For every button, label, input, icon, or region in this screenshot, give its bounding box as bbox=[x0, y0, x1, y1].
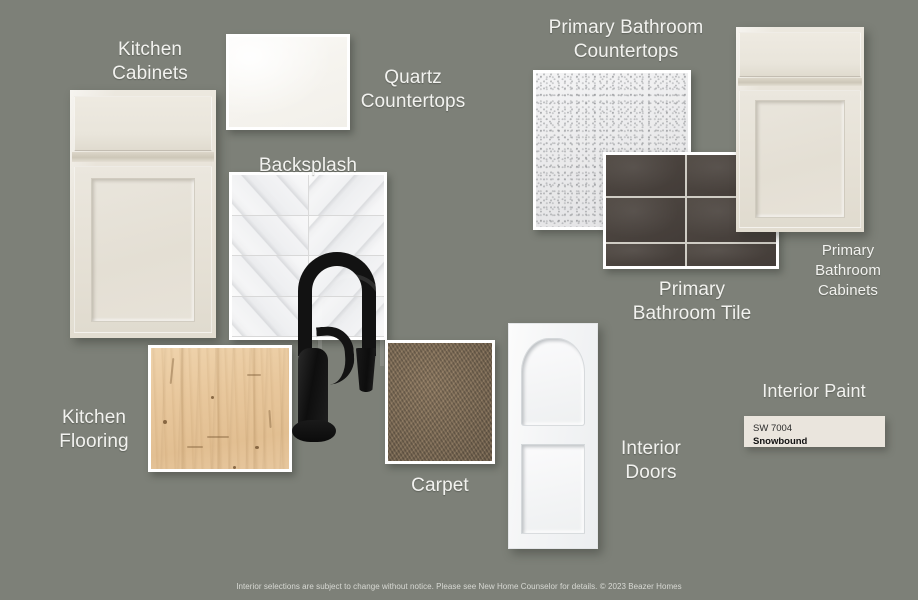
label-quartz-countertops: Quartz Countertops bbox=[352, 66, 474, 114]
paint-name-label: Snowbound bbox=[753, 435, 876, 448]
wood-floor-surface bbox=[151, 348, 289, 469]
paint-code-label: SW 7004 bbox=[753, 423, 876, 435]
quartz-countertop-swatch[interactable] bbox=[226, 34, 350, 130]
cabinet-drawer-lip bbox=[72, 152, 214, 162]
carpet-surface bbox=[388, 343, 492, 461]
door-lower-panel bbox=[521, 444, 585, 534]
cabinet-drawer-front bbox=[74, 96, 213, 151]
label-primary-bathroom-countertops: Primary Bathroom Countertops bbox=[520, 16, 732, 64]
label-interior-doors: Interior Doors bbox=[598, 437, 704, 485]
footer-disclaimer: Interior selections are subject to chang… bbox=[0, 581, 918, 592]
interior-door-swatch[interactable] bbox=[508, 323, 598, 549]
label-kitchen-flooring: Kitchen Flooring bbox=[36, 406, 152, 454]
interior-selections-board: SW 7004 Snowbound Kitchen Cabinets Quart… bbox=[0, 0, 918, 600]
label-kitchen-cabinets: Kitchen Cabinets bbox=[90, 38, 210, 86]
carpet-swatch[interactable] bbox=[385, 340, 495, 464]
faucet-base bbox=[292, 420, 336, 442]
bath-cabinet-drawer-lip bbox=[738, 78, 862, 86]
interior-paint-chip[interactable]: SW 7004 Snowbound bbox=[744, 416, 885, 447]
bath-cabinet-recessed-panel bbox=[755, 100, 846, 218]
label-primary-bathroom-cabinets: Primary Bathroom Cabinets bbox=[796, 241, 900, 301]
cabinet-door-front bbox=[74, 166, 213, 333]
cabinet-recessed-panel bbox=[91, 178, 195, 322]
quartz-surface bbox=[229, 37, 347, 127]
label-backsplash: Backsplash bbox=[240, 154, 376, 178]
label-interior-paint: Interior Paint bbox=[742, 379, 886, 403]
label-carpet: Carpet bbox=[386, 474, 494, 498]
label-primary-bathroom-tile: Primary Bathroom Tile bbox=[600, 278, 784, 326]
kitchen-cabinet-swatch[interactable] bbox=[70, 90, 216, 338]
kitchen-faucet[interactable] bbox=[298, 252, 388, 447]
bath-cabinet-drawer-front bbox=[739, 32, 861, 77]
faucet-spout bbox=[354, 348, 378, 392]
bath-cabinet-door-front bbox=[739, 90, 861, 228]
kitchen-flooring-swatch[interactable] bbox=[148, 345, 292, 472]
door-upper-arched-panel bbox=[521, 338, 585, 426]
primary-bathroom-cabinet-swatch[interactable] bbox=[736, 27, 864, 232]
